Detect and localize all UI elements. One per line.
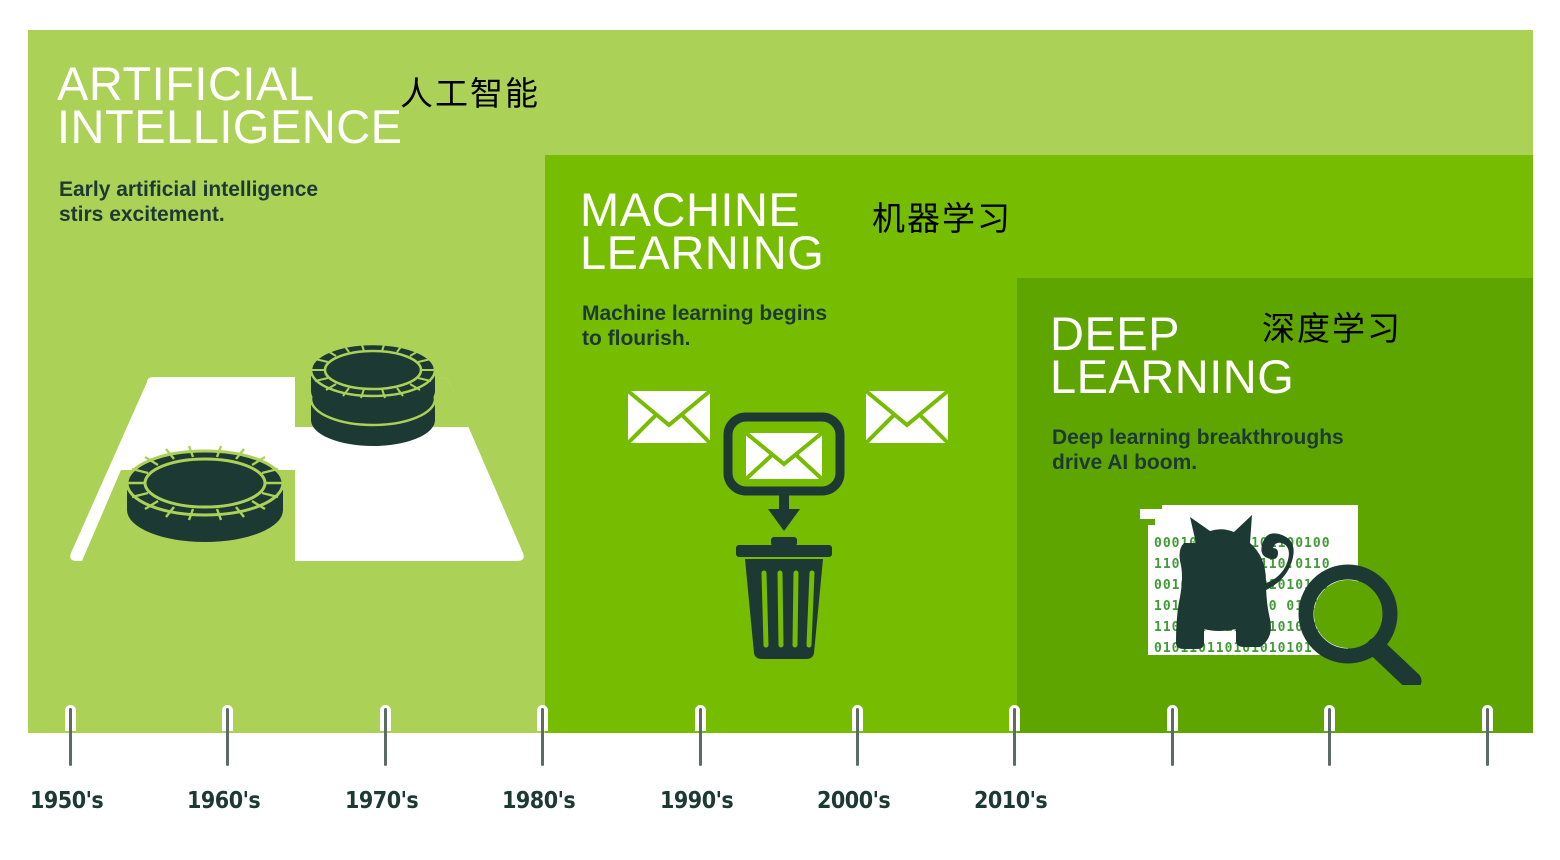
dl-subtitle: Deep learning breakthroughs drive AI boo… bbox=[1052, 426, 1344, 476]
annotation-cn-ml: 机器学习 bbox=[872, 192, 1012, 240]
checkers-board-icon bbox=[55, 325, 535, 600]
ml-title: MACHINE LEARNING bbox=[580, 188, 824, 274]
envelope-left bbox=[628, 391, 710, 443]
infographic-canvas: 00010110010101100100 110101110110110.011… bbox=[0, 0, 1560, 860]
decade-label: 1960's bbox=[187, 788, 260, 814]
ml-subtitle: Machine learning begins to flourish. bbox=[582, 302, 827, 352]
envelope-flagged bbox=[728, 417, 840, 491]
decade-label: 1970's bbox=[345, 788, 418, 814]
spam-filter-icon bbox=[618, 385, 958, 680]
ai-title: ARTIFICIAL INTELLIGENCE bbox=[57, 62, 403, 148]
decade-label: 1980's bbox=[502, 788, 575, 814]
annotation-cn-ai: 人工智能 bbox=[400, 67, 540, 115]
arrow-down-icon bbox=[768, 491, 800, 531]
cat-recognition-icon: 00010110010101100100 110101110110110.011… bbox=[1140, 495, 1430, 690]
envelope-right bbox=[866, 391, 948, 443]
decade-label: 2010's bbox=[974, 788, 1047, 814]
decade-label: 2000's bbox=[817, 788, 890, 814]
decade-label: 1950's bbox=[30, 788, 103, 814]
dl-title: DEEP LEARNING bbox=[1050, 312, 1294, 398]
ai-subtitle: Early artificial intelligence stirs exci… bbox=[59, 178, 318, 228]
annotation-cn-dl: 深度学习 bbox=[1262, 302, 1402, 350]
magnifying-glass-icon bbox=[1306, 572, 1412, 681]
trash-can-icon bbox=[736, 537, 832, 659]
decade-label: 1990's bbox=[660, 788, 733, 814]
